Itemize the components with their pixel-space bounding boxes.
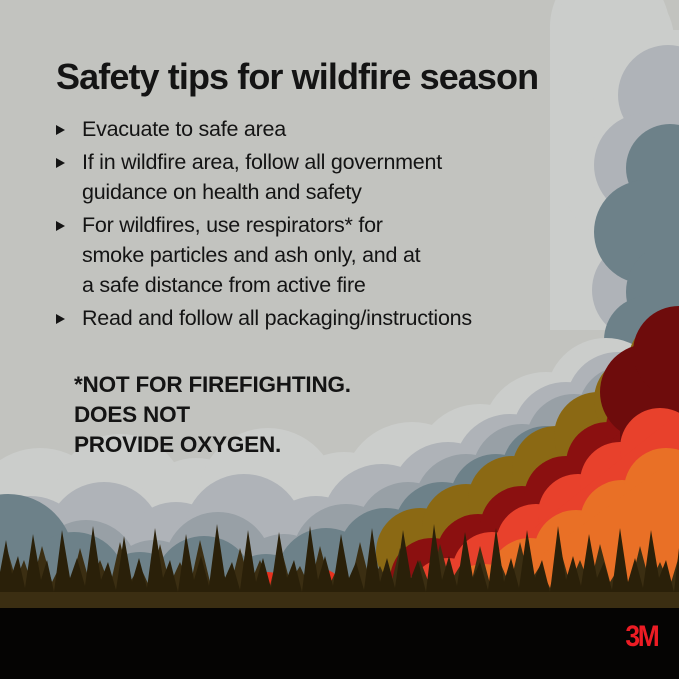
safety-tips-list: Evacuate to safe area If in wildfire are… [52,114,612,336]
brand-logo-3m: 3M [625,622,657,652]
tip-line: Read and follow all packaging/instructio… [82,303,612,333]
triangle-right-icon [56,125,65,135]
warning-disclaimer: *NOT FOR FIREFIGHTING. DOES NOT PROVIDE … [74,370,351,460]
tip-line: Evacuate to safe area [82,114,612,144]
list-item: If in wildfire area, follow all governme… [52,147,612,207]
page-title: Safety tips for wildfire season [56,58,538,95]
wildfire-illustration [0,0,679,679]
tip-line: For wildfires, use respirators* for [82,210,612,240]
warning-line: DOES NOT [74,400,351,430]
triangle-right-icon [56,314,65,324]
list-item: Evacuate to safe area [52,114,612,144]
list-item: For wildfires, use respirators* for smok… [52,210,612,300]
list-item: Read and follow all packaging/instructio… [52,303,612,333]
tip-line: smoke particles and ash only, and at [82,240,612,270]
tip-line: a safe distance from active fire [82,270,612,300]
warning-line: PROVIDE OXYGEN. [74,430,351,460]
triangle-right-icon [56,221,65,231]
warning-line: *NOT FOR FIREFIGHTING. [74,370,351,400]
footer-bar [0,608,679,679]
wildfire-safety-poster: Safety tips for wildfire season Evacuate… [0,0,679,679]
tip-line: If in wildfire area, follow all governme… [82,147,612,177]
tip-line: guidance on health and safety [82,177,612,207]
triangle-right-icon [56,158,65,168]
